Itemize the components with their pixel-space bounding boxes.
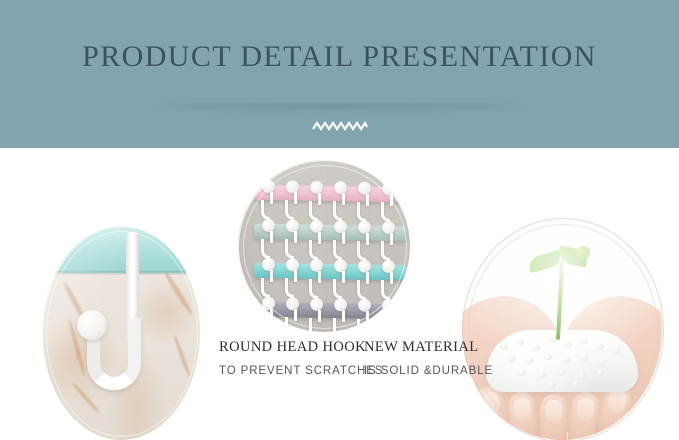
hook-grey-5 (357, 319, 366, 332)
hook-grey-2 (285, 317, 294, 332)
zigzag-ornament-icon (312, 120, 368, 132)
hook-teal-3 (309, 279, 318, 299)
photo-hook-on-marble (42, 226, 200, 440)
hook-pink-3 (309, 201, 318, 221)
product-detail-page: PRODUCT DETAIL PRESENTATION (0, 0, 679, 440)
hook-grey-6 (381, 319, 390, 332)
hook-green-2 (285, 239, 294, 259)
hook-teal-2 (285, 278, 294, 298)
photo-hands-with-pellets (462, 218, 662, 440)
hook-teal-4 (333, 279, 342, 299)
hook-teal-6 (381, 280, 390, 300)
rail-grey-purple (254, 302, 406, 320)
title-divider (152, 103, 527, 110)
hook-pink-4 (333, 201, 342, 221)
caption-heading: NEW MATERIAL (364, 339, 493, 356)
rail-sage-green (254, 224, 406, 242)
caption-heading: ROUND HEAD HOOK (219, 339, 383, 356)
caption-round-head-hook: ROUND HEAD HOOK TO PREVENT SCRATCHES (219, 339, 383, 377)
hook-pink-1 (261, 200, 270, 220)
backlight-glow (462, 218, 662, 440)
hook-pink-5 (357, 202, 366, 222)
hook-pink-6 (381, 202, 390, 222)
hook-grey-3 (309, 318, 318, 332)
hook-teal-5 (357, 280, 366, 300)
caption-new-material: NEW MATERIAL IS SOLID &DURABLE (364, 339, 493, 377)
hook-green-6 (381, 241, 390, 261)
title-divider-secondary (205, 110, 465, 114)
page-title: PRODUCT DETAIL PRESENTATION (0, 40, 679, 74)
hook-green-3 (309, 240, 318, 260)
hook-green-1 (261, 239, 270, 259)
rail-pink (254, 185, 406, 203)
hook-pink-2 (285, 200, 294, 220)
hook-green-5 (357, 241, 366, 261)
glass-shine-overlay (42, 226, 200, 440)
hook-teal-1 (261, 278, 270, 298)
caption-subtext: TO PREVENT SCRATCHES (219, 365, 383, 377)
hook-grey-4 (333, 318, 342, 332)
rail-teal (254, 263, 406, 281)
caption-subtext: IS SOLID &DURABLE (364, 365, 493, 377)
hook-green-4 (333, 240, 342, 260)
header-banner: PRODUCT DETAIL PRESENTATION (0, 0, 679, 148)
photo-hook-rails (238, 160, 410, 332)
hook-grey-1 (261, 317, 270, 332)
